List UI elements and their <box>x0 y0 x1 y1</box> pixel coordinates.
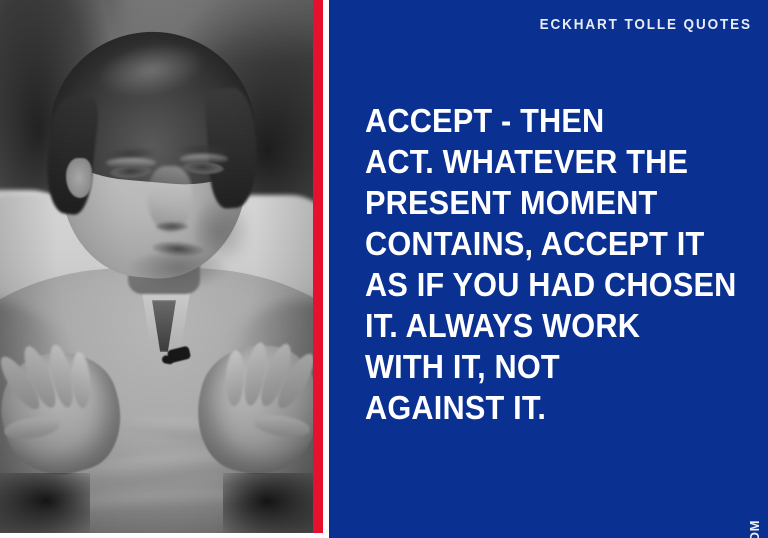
quote-text: ACCEPT - THEN ACT. WHATEVER THE PRESENT … <box>365 100 717 428</box>
quote-line: AS IF YOU HAD CHOSEN <box>365 264 717 305</box>
photo-corner-shadow-right <box>223 473 313 533</box>
portrait-photo <box>0 0 313 533</box>
quote-line: ACT. WHATEVER THE <box>365 141 717 182</box>
photo-corner-shadow-left <box>0 473 90 533</box>
photo-chin-shadow <box>128 252 228 290</box>
quote-line: AGAINST IT. <box>365 387 717 428</box>
page-title: ECKHART TOLLE QUOTES <box>540 16 752 33</box>
photo-nostril <box>156 222 188 231</box>
quote-line: ACCEPT - THEN <box>365 100 717 141</box>
site-watermark: WWW.ELITECOLUMN.COM <box>747 520 762 538</box>
quote-line: PRESENT MOMENT <box>365 182 717 223</box>
quote-panel: ECKHART TOLLE QUOTES ACCEPT - THEN ACT. … <box>329 0 768 538</box>
quote-poster: ECKHART TOLLE QUOTES ACCEPT - THEN ACT. … <box>0 0 768 538</box>
quote-line: IT. ALWAYS WORK <box>365 305 717 346</box>
quote-line: WITH IT, NOT <box>365 346 717 387</box>
quote-line: CONTAINS, ACCEPT IT <box>365 223 717 264</box>
red-divider-bar <box>313 0 323 533</box>
photo-ear <box>66 158 92 198</box>
bottom-white-strip <box>0 533 329 538</box>
watermark-suffix: .COM <box>747 520 762 538</box>
